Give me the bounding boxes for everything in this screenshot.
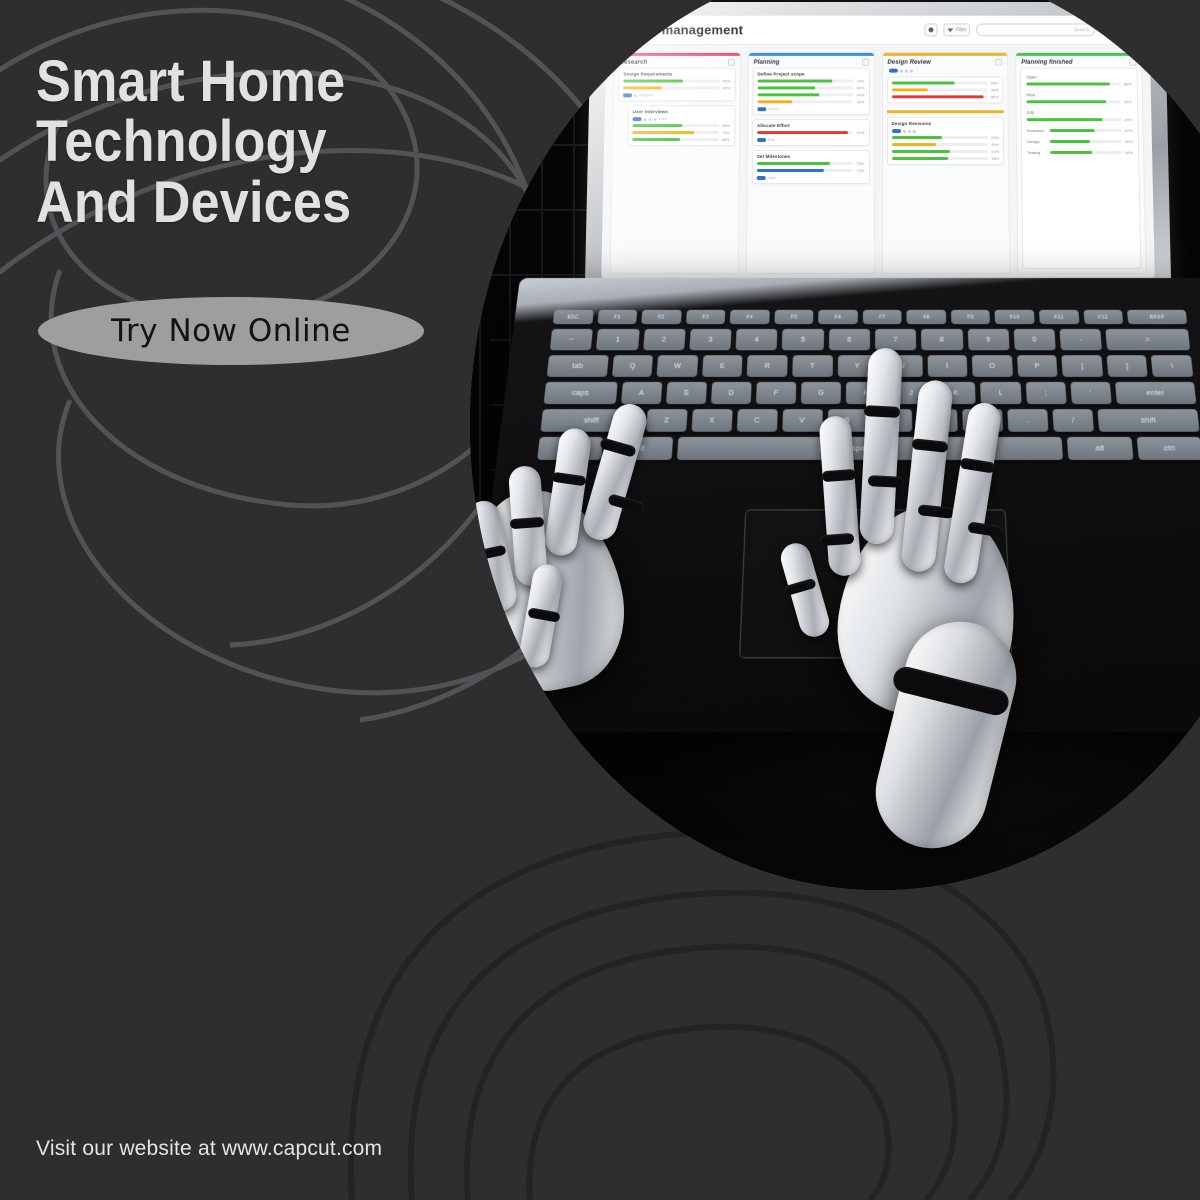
progress-row: 66%	[891, 81, 998, 86]
laptop-screen: Project management Filter	[601, 16, 1155, 280]
progress-track	[891, 88, 987, 91]
progress-fill	[757, 100, 792, 103]
progress-fill	[1050, 151, 1092, 154]
robot-hand-left	[490, 370, 720, 710]
progress-track	[757, 100, 853, 103]
key[interactable]: '	[1070, 382, 1111, 404]
summary-row: Open 88%	[1026, 75, 1131, 87]
summary-row: New 84%	[1027, 92, 1133, 104]
progress-track	[891, 95, 987, 98]
progress-row: 84%	[1027, 99, 1132, 104]
column-menu-icon[interactable]	[1129, 59, 1136, 66]
progress-row: 58%	[892, 156, 1000, 161]
summary-subrow: Testing 58%	[1027, 150, 1133, 155]
card-tag-row	[891, 129, 999, 133]
summary-label: New	[1027, 92, 1132, 97]
progress-track	[1050, 129, 1122, 132]
progress-fill	[891, 136, 941, 139]
progress-track	[623, 86, 719, 89]
tag-label: Team	[658, 117, 667, 121]
robot-finger	[818, 415, 861, 577]
key[interactable]: ]	[1106, 355, 1148, 377]
progress-fill	[891, 88, 928, 91]
progress-track	[1050, 140, 1122, 143]
project-management-app: Project management Filter	[601, 16, 1155, 280]
progress-row: 62%	[623, 79, 730, 84]
progress-fill	[757, 169, 825, 172]
key[interactable]: 1	[596, 329, 639, 350]
key[interactable]: enter	[1115, 382, 1197, 404]
progress-value: 46%	[991, 142, 999, 147]
search-input[interactable]: Search	[976, 24, 1095, 37]
laptop-lid: Project management Filter	[585, 2, 1172, 296]
board-view-button[interactable]	[925, 24, 938, 37]
tag-dot	[902, 130, 905, 133]
card-tag-row: Team	[633, 117, 731, 121]
key[interactable]: F12	[1083, 310, 1123, 324]
progress-value: 40%	[722, 85, 730, 90]
progress-value: 78%	[857, 79, 865, 84]
progress-fill	[757, 131, 848, 134]
progress-track	[757, 93, 853, 96]
progress-fill	[891, 95, 984, 98]
filter-button[interactable]: Filter	[944, 24, 971, 37]
app-topbar: Project management Filter	[606, 16, 1150, 45]
tag-label: Risk	[768, 138, 775, 142]
app-title-regular: Project	[616, 23, 658, 38]
task-card[interactable]: Set Milestones 76% 70%	[751, 150, 869, 184]
progress-fill	[757, 93, 819, 96]
card-title: User Interviews	[633, 109, 731, 114]
progress-value: 58%	[991, 156, 999, 161]
search-placeholder: Search	[1074, 27, 1090, 33]
tag-pill	[633, 117, 642, 121]
key[interactable]: shift	[1098, 409, 1200, 432]
tag-dot	[904, 69, 907, 72]
column-menu-icon[interactable]	[728, 59, 735, 66]
card-tag-row: Assigned	[623, 93, 730, 97]
progress-fill	[1027, 100, 1106, 103]
card-title: Define Project scope	[757, 72, 864, 77]
progress-fill	[623, 86, 662, 89]
tag-label: Assigned	[639, 93, 654, 97]
tag-pill	[888, 69, 897, 73]
progress-row: 76%	[757, 161, 865, 166]
summary-subrow: Design 56%	[1027, 139, 1133, 144]
progress-row: 72%	[632, 130, 730, 135]
progress-row: 60%	[757, 85, 864, 90]
headline-line-2: Technology	[36, 112, 351, 172]
laptop: Project management Filter	[500, 0, 1200, 750]
tag-dot	[907, 130, 910, 133]
avatar	[1119, 26, 1127, 34]
summary-row: Edit 80%	[1027, 110, 1133, 122]
column-body: Open 88% New	[1016, 68, 1145, 273]
progress-value: 76%	[856, 161, 864, 166]
headline-line-1: Smart Home	[36, 52, 351, 112]
progress-fill	[1050, 140, 1090, 143]
key[interactable]: 2	[643, 329, 686, 350]
progress-value: 60%	[857, 85, 865, 90]
progress-fill	[1050, 129, 1094, 132]
tag-pill	[891, 129, 900, 133]
card-accent-bar	[886, 110, 1003, 113]
column-title: Design Review	[887, 59, 930, 65]
key[interactable]: BKSP	[1127, 310, 1187, 324]
robot-joint	[868, 475, 905, 488]
progress-row: 80%	[1027, 117, 1133, 122]
progress-row: 55%	[632, 137, 730, 142]
task-card[interactable]: Design Requirements 62% 40%	[618, 68, 736, 102]
poster-canvas: Project management Filter	[0, 0, 1200, 1200]
headline-line-3: And Devices	[36, 173, 351, 233]
app-title: Project management	[616, 23, 743, 38]
hero-photo: Project management Filter	[470, 0, 1200, 890]
progress-track	[632, 131, 719, 134]
progress-fill	[892, 157, 948, 160]
progress-fill	[632, 124, 682, 127]
progress-track	[891, 82, 987, 85]
progress-value: 94%	[857, 130, 865, 135]
task-card[interactable]: Design Revisions	[886, 117, 1004, 165]
progress-track	[757, 169, 854, 172]
tag-dot	[899, 69, 902, 72]
progress-fill	[1026, 82, 1109, 85]
column-body: 66% 38% 96%	[882, 68, 1009, 273]
progress-row: 78%	[757, 79, 864, 84]
progress-row: 46%	[891, 142, 999, 147]
tag-dot	[912, 130, 915, 133]
tag-pill	[757, 107, 766, 111]
task-card[interactable]: User Interviews Team	[627, 105, 735, 146]
user-menu[interactable]: User	[1119, 26, 1140, 34]
column-menu-icon[interactable]	[862, 59, 869, 66]
tag-dot	[648, 118, 651, 121]
key[interactable]: \	[1151, 355, 1193, 377]
progress-fill	[757, 80, 832, 83]
progress-fill	[623, 80, 683, 83]
column-header: Design Review	[882, 56, 1007, 68]
key[interactable]: F1	[597, 310, 637, 324]
progress-row: 38%	[891, 87, 998, 92]
progress-row: 36%	[757, 99, 864, 104]
progress-fill	[757, 86, 815, 89]
filter-label: Filter	[956, 27, 967, 33]
key[interactable]: F3	[686, 310, 726, 324]
progress-track	[892, 150, 989, 153]
kanban-column-research[interactable]: Research Design Requirements 62%	[609, 52, 740, 274]
progress-track	[892, 157, 989, 160]
progress-row: 96%	[891, 94, 998, 99]
column-tag-row	[886, 69, 1003, 73]
kanban-column-design-review[interactable]: Design Review	[881, 52, 1010, 274]
summary-label: Design	[1027, 139, 1047, 144]
robot-joint	[820, 533, 855, 546]
progress-value: 66%	[991, 81, 999, 86]
search-button[interactable]	[1101, 24, 1113, 36]
key[interactable]: alt	[1067, 437, 1133, 460]
card-title: Set Milestones	[757, 154, 865, 159]
progress-row: 52%	[891, 135, 999, 140]
tag-dot	[653, 118, 656, 121]
card-title: Design Revisions	[891, 121, 999, 126]
card-title: Allocate Effort	[757, 123, 865, 128]
column-header: Research	[615, 56, 740, 68]
try-now-online-button[interactable]: Try Now Online	[38, 297, 424, 365]
progress-row: 64%	[757, 92, 864, 97]
robot-finger	[579, 400, 650, 544]
card-tag-row: Lead	[756, 176, 864, 180]
progress-row: 40%	[623, 85, 730, 90]
column-title: Planning	[754, 59, 780, 65]
task-card[interactable]: Allocate Effort 94% Risk	[752, 119, 870, 146]
progress-value: 36%	[857, 99, 865, 104]
column-body: Define Project scope 78% 60%	[746, 68, 873, 273]
tag-pill	[756, 176, 765, 180]
progress-track	[1027, 100, 1121, 103]
kanban-column-planning-finished[interactable]: Planning finished Open	[1015, 52, 1146, 274]
progress-fill	[892, 150, 950, 153]
summary-label: Open	[1026, 75, 1131, 80]
progress-fill	[891, 82, 955, 85]
progress-value: 58%	[722, 123, 730, 128]
app-title-bold: management	[662, 23, 744, 38]
progress-value: 70%	[856, 168, 864, 173]
column-header: Planning	[749, 56, 874, 68]
column-title: Planning finished	[1021, 59, 1072, 65]
robot-joint	[822, 469, 857, 482]
progress-value: 84%	[1124, 99, 1132, 104]
progress-value: 38%	[991, 87, 999, 92]
key[interactable]: 3	[689, 329, 731, 350]
summary-subrow: Research 62%	[1027, 128, 1133, 133]
progress-track	[632, 138, 719, 141]
progress-track	[891, 136, 988, 139]
card-tag-row: Owner	[757, 107, 864, 111]
progress-row: 58%	[632, 123, 730, 128]
progress-value: 58%	[1125, 150, 1133, 155]
key[interactable]: =	[1106, 329, 1191, 350]
board-icon	[929, 27, 934, 32]
tag-pill	[623, 93, 632, 97]
task-card[interactable]: Define Project scope 78% 60%	[752, 68, 869, 115]
progress-fill	[632, 131, 694, 134]
filter-icon	[948, 28, 954, 32]
tag-label: Owner	[768, 107, 779, 111]
card-title: Design Requirements	[623, 72, 730, 77]
progress-value: 64%	[857, 92, 865, 97]
task-card[interactable]: 66% 38% 96%	[886, 77, 1003, 104]
progress-fill	[1027, 118, 1103, 121]
column-title: Research	[620, 59, 648, 65]
progress-value: 55%	[722, 137, 730, 142]
column-menu-icon[interactable]	[995, 59, 1002, 66]
tag-dot	[909, 69, 912, 72]
column-body: Design Requirements 62% 40%	[610, 68, 739, 273]
progress-value: 62%	[1125, 128, 1133, 133]
progress-row: 60%	[892, 149, 1000, 154]
robot-hand-right	[730, 320, 1070, 740]
progress-value: 60%	[991, 149, 999, 154]
progress-fill	[632, 138, 680, 141]
progress-track	[757, 86, 853, 89]
kanban-board: Research Design Requirements 62%	[601, 45, 1155, 280]
summary-label: Testing	[1027, 150, 1047, 155]
tag-dot	[643, 118, 646, 121]
cta-label: Try Now Online	[111, 313, 351, 349]
key[interactable]: F2	[641, 310, 681, 324]
progress-track	[1050, 151, 1122, 154]
website-footer: Visit our website at www.capcut.com	[36, 1137, 382, 1161]
robot-joint	[864, 405, 901, 418]
tag-pill	[757, 138, 766, 142]
progress-fill	[757, 162, 831, 165]
summary-label: Edit	[1027, 110, 1133, 115]
progress-value: 56%	[1125, 139, 1133, 144]
key[interactable]: ESC	[553, 310, 594, 324]
tag-dot	[634, 94, 637, 97]
progress-value: 52%	[991, 135, 999, 140]
progress-track	[1027, 118, 1122, 121]
page-title: Smart Home Technology And Devices	[36, 52, 351, 233]
progress-row: 94%	[757, 130, 865, 135]
progress-track	[757, 162, 854, 165]
progress-value: 88%	[1124, 82, 1132, 87]
progress-fill	[891, 143, 935, 146]
progress-value: 62%	[723, 79, 731, 84]
progress-row: 88%	[1026, 82, 1131, 87]
tag-label: Lead	[767, 176, 775, 180]
key[interactable]: ~	[550, 329, 593, 350]
progress-value: 72%	[722, 130, 730, 135]
progress-track	[757, 131, 854, 134]
kanban-column-planning[interactable]: Planning Define Project scope 78%	[745, 52, 874, 274]
progress-value: 96%	[991, 94, 999, 99]
user-label: User	[1129, 27, 1140, 33]
progress-row: 70%	[757, 168, 865, 173]
progress-value: 80%	[1124, 117, 1132, 122]
column-header: Planning finished	[1016, 56, 1141, 68]
summary-panel[interactable]: Open 88% New	[1020, 68, 1141, 269]
card-tag-row: Risk	[757, 138, 865, 142]
progress-track	[623, 80, 719, 83]
key[interactable]: ctrl	[1136, 437, 1200, 460]
progress-track	[891, 143, 988, 146]
search-icon	[1104, 26, 1111, 33]
progress-track	[757, 80, 853, 83]
progress-track	[1026, 82, 1120, 85]
progress-track	[632, 124, 719, 127]
summary-label: Research	[1027, 128, 1047, 133]
